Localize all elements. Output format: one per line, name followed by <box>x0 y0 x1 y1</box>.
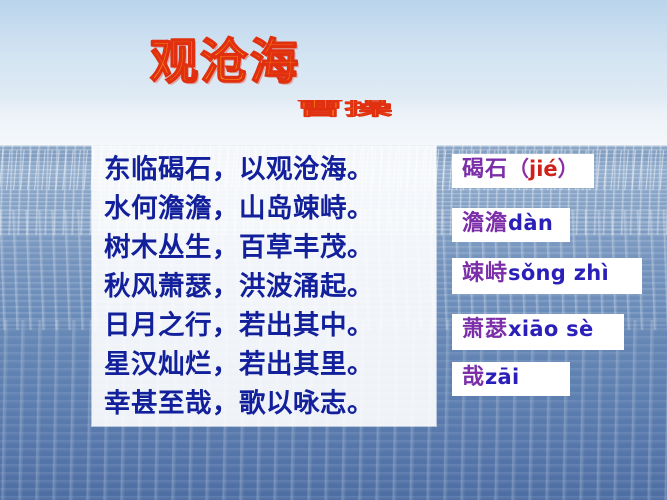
annotation-box: 哉zāi <box>452 362 570 396</box>
poem-line: 水何澹澹，山岛竦峙。 <box>92 189 436 228</box>
poem-line: 日月之行，若出其中。 <box>92 306 436 345</box>
annotation-pinyin: xiāo sè <box>508 317 594 341</box>
annotation-pinyin: sǒng zhì <box>508 261 609 285</box>
annotation-box: 澹澹dàn <box>452 208 570 242</box>
author-wordart-text: 曹操 <box>296 100 392 117</box>
annotation-box: 碣石（jié） <box>452 154 594 188</box>
annotation-right-paren: ） <box>558 156 579 181</box>
poem-panel: 东临碣石，以观沧海。 水何澹澹，山岛竦峙。 树木丛生，百草丰茂。 秋风萧瑟，洪波… <box>92 146 436 426</box>
slide-canvas: 观沧海 曹操 东临碣石，以观沧海。 水何澹澹，山岛竦峙。 树木丛生，百草丰茂。 … <box>0 0 667 500</box>
annotation-box: 竦峙sǒng zhì <box>452 258 642 294</box>
poem-body: 东临碣石，以观沧海。 水何澹澹，山岛竦峙。 树木丛生，百草丰茂。 秋风萧瑟，洪波… <box>92 146 436 423</box>
slide-author: 曹操 <box>296 100 392 140</box>
annotation-left-paren: （ <box>508 156 529 181</box>
annotation-hanzi: 萧瑟 <box>462 316 508 342</box>
annotation-pinyin: zāi <box>485 365 520 389</box>
poem-line: 树木丛生，百草丰茂。 <box>92 228 436 267</box>
poem-line: 秋风萧瑟，洪波涌起。 <box>92 267 436 306</box>
annotation-pinyin: jié <box>529 157 558 181</box>
annotation-pinyin: dàn <box>508 211 553 235</box>
annotation-hanzi: 竦峙 <box>462 260 508 286</box>
poem-line: 东临碣石，以观沧海。 <box>92 150 436 189</box>
poem-line: 星汉灿烂，若出其里。 <box>92 345 436 384</box>
slide-title: 观沧海 <box>150 38 300 86</box>
title-wordart-text: 观沧海 <box>150 38 300 86</box>
annotation-hanzi: 碣石 <box>462 156 508 182</box>
annotation-hanzi: 澹澹 <box>462 210 508 236</box>
annotation-hanzi: 哉 <box>462 364 485 390</box>
poem-line: 幸甚至哉，歌以咏志。 <box>92 384 436 423</box>
annotation-box: 萧瑟xiāo sè <box>452 314 624 350</box>
